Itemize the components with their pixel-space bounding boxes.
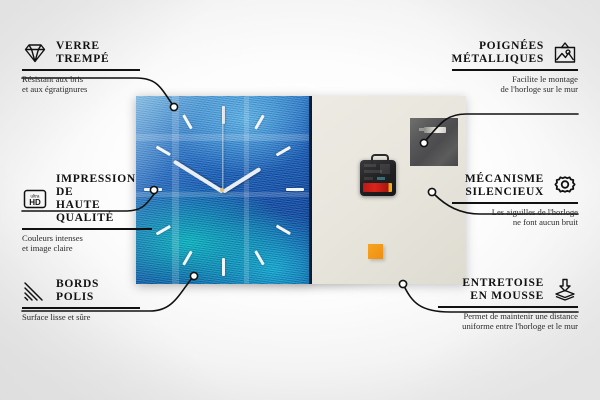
feature-title-line: MÉCANISME — [465, 173, 544, 186]
feature-divider — [438, 306, 578, 308]
feature-title-line: POLIS — [56, 291, 99, 304]
feature-title-line: SILENCIEUX — [465, 186, 544, 199]
feature-divider — [452, 69, 578, 71]
battery — [363, 183, 392, 192]
feature-subtitle-line: et image claire — [22, 243, 154, 254]
hanger-slot — [424, 127, 446, 133]
feature-bords-polis: BORDS POLIS Surface lisse et sûre — [22, 278, 142, 322]
feature-header: BORDS POLIS — [22, 278, 142, 304]
feature-title-line: EN MOUSSE — [462, 290, 544, 303]
feature-title-line: BORDS — [56, 278, 99, 291]
feature-subtitle-line: uniforme entre l'horloge et le mur — [438, 321, 578, 332]
arrow-down-onto-stack-icon — [552, 277, 578, 303]
mechanism-detail — [364, 177, 373, 180]
polished-edge-icon — [22, 278, 48, 304]
feature-header: ultra HD IMPRESSION DE HAUTE QUALITÉ — [22, 173, 154, 225]
diamond-icon — [22, 40, 48, 66]
metal-hanger-plate — [410, 118, 458, 166]
feature-title-line: POIGNÉES — [452, 40, 544, 53]
clock-back-panel — [312, 96, 466, 284]
feature-divider — [22, 228, 152, 230]
gear-icon — [552, 173, 578, 199]
feature-title-line: TREMPÉ — [56, 53, 109, 66]
hanging-picture-frame-icon — [552, 40, 578, 66]
feature-header: VERRE TREMPÉ — [22, 40, 142, 66]
feature-divider — [22, 307, 140, 309]
feature-header: MÉCANISME SILENCIEUX — [452, 173, 578, 199]
feature-title-line: MÉTALLIQUES — [452, 53, 544, 66]
mechanism-detail — [364, 164, 376, 167]
mechanism-detail — [380, 164, 390, 174]
feature-poignees-metalliques: POIGNÉES MÉTALLIQUES Facilite le montage… — [452, 40, 578, 95]
clock-face — [136, 96, 312, 284]
feature-subtitle-line: Les aiguilles de l'horloge — [452, 207, 578, 218]
feature-subtitle-line: Permet de maintenir une distance — [438, 311, 578, 322]
foam-spacer — [368, 244, 383, 259]
svg-text:HD: HD — [29, 198, 41, 207]
feature-impression-haute-qualite: ultra HD IMPRESSION DE HAUTE QUALITÉ Cou… — [22, 173, 154, 254]
feature-divider — [22, 69, 140, 71]
mechanism-detail — [377, 177, 385, 180]
clock-mechanism — [360, 160, 396, 196]
feature-verre-trempe: VERRE TREMPÉ Résistant aux bris et aux é… — [22, 40, 142, 95]
feature-subtitle-line: Surface lisse et sûre — [22, 312, 142, 323]
feature-mecanisme-silencieux: MÉCANISME SILENCIEUX Les aiguilles de l'… — [452, 173, 578, 228]
feature-subtitle-line: ne font aucun bruit — [452, 217, 578, 228]
feature-title-line: ENTRETOISE — [462, 277, 544, 290]
feature-subtitle-line: Résistant aux bris — [22, 74, 142, 85]
feature-header: ENTRETOISE EN MOUSSE — [438, 277, 578, 303]
feature-divider — [452, 202, 578, 204]
product-image — [136, 96, 466, 284]
feature-entretoise-en-mousse: ENTRETOISE EN MOUSSE Permet de maintenir… — [438, 277, 578, 332]
feature-header: POIGNÉES MÉTALLIQUES — [452, 40, 578, 66]
feature-subtitle-line: Facilite le montage — [452, 74, 578, 85]
feature-title-line: VERRE — [56, 40, 109, 53]
infographic-canvas: VERRE TREMPÉ Résistant aux bris et aux é… — [0, 0, 600, 400]
feature-subtitle-line: Couleurs intenses — [22, 233, 154, 244]
ultra-hd-icon: ultra HD — [22, 186, 48, 212]
feature-title-line: HAUTE QUALITÉ — [56, 199, 154, 225]
feature-title-line: IMPRESSION DE — [56, 173, 154, 199]
feature-subtitle-line: de l'horloge sur le mur — [452, 84, 578, 95]
glass-glare — [136, 96, 312, 284]
feature-subtitle-line: et aux égratignures — [22, 84, 142, 95]
